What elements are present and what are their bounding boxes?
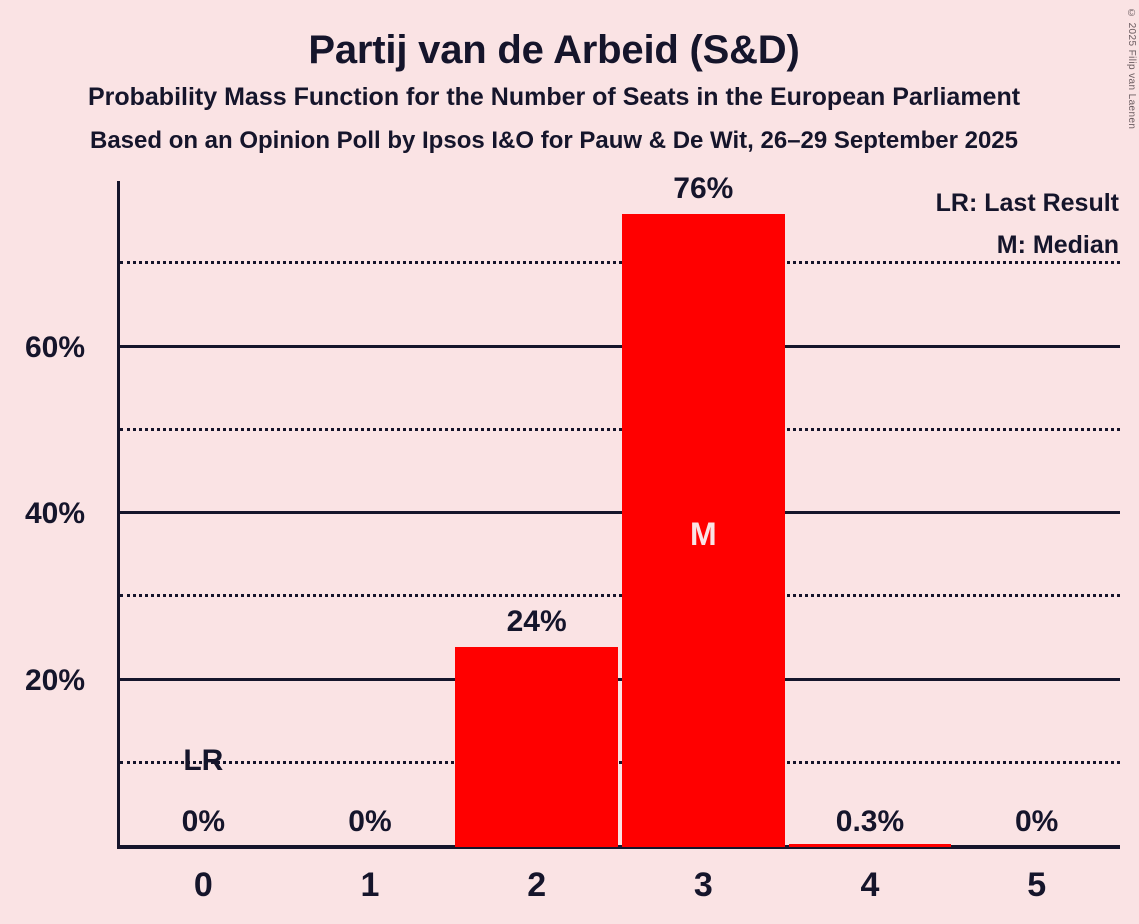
x-tick-label-5: 5 — [953, 860, 1120, 910]
x-axis-labels: 012345 — [120, 860, 1120, 920]
copyright-notice: © 2025 Filip van Laenen — [1126, 8, 1137, 129]
y-tick-label-40: 40% — [25, 497, 85, 531]
y-axis-labels: 20%40%60% — [0, 181, 1120, 847]
x-tick-label-2: 2 — [453, 860, 620, 910]
chart-source-line: Based on an Opinion Poll by Ipsos I&O fo… — [0, 114, 1108, 157]
chart-title: Partij van de Arbeid (S&D) — [0, 0, 1108, 74]
chart-subtitle: Probability Mass Function for the Number… — [0, 74, 1108, 114]
x-tick-label-0: 0 — [120, 860, 287, 910]
x-tick-label-1: 1 — [287, 860, 454, 910]
x-tick-label-3: 3 — [620, 860, 787, 910]
chart-canvas: Partij van de Arbeid (S&D) Probability M… — [0, 0, 1139, 924]
chart-header: Partij van de Arbeid (S&D) Probability M… — [0, 0, 1108, 157]
y-tick-label-60: 60% — [25, 331, 85, 365]
y-tick-label-20: 20% — [25, 664, 85, 698]
x-tick-label-4: 4 — [787, 860, 954, 910]
